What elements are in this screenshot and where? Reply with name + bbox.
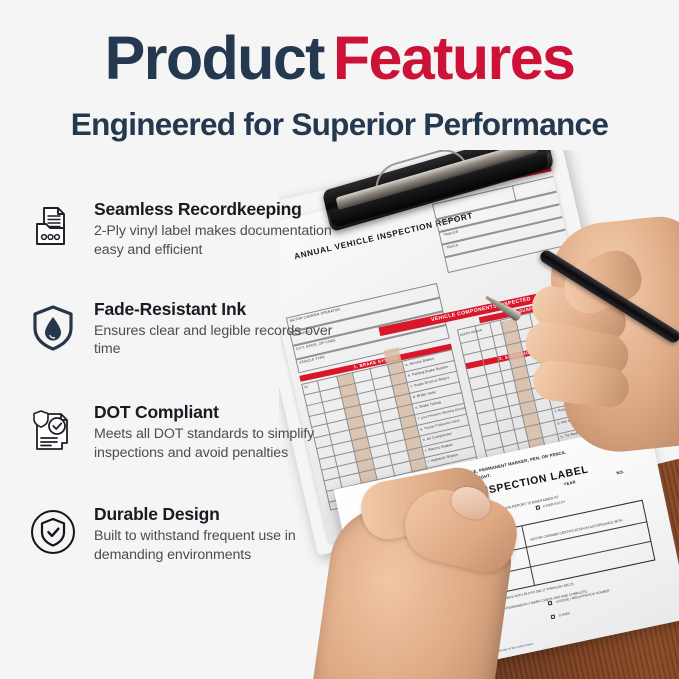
feature-title-fade-resistant-ink: Fade-Resistant Ink [94,299,342,319]
feature-text-recordkeeping: Seamless Recordkeeping 2-Ply vinyl label… [94,196,342,260]
page-subtitle: Engineered for Superior Performance [0,106,679,143]
document-filebox-icon [22,196,84,258]
feature-title-recordkeeping: Seamless Recordkeeping [94,199,342,219]
label-option-other: OTHER [558,611,570,617]
feature-title-dot-compliant: DOT Compliant [94,402,342,422]
page-title-part-1: Product [105,24,324,92]
document-check-shield-icon [22,399,84,461]
shield-check-circle-icon [22,501,84,563]
page-title-part-2: Features [333,24,574,92]
feature-title-durable-design: Durable Design [94,504,342,524]
feature-item-fade-resistant-ink: Fade-Resistant Ink Ensures clear and leg… [22,296,342,360]
label-checkbox-other[interactable] [551,614,556,619]
shield-droplet-icon [22,296,84,358]
feature-list: Seamless Recordkeeping 2-Ply vinyl label… [22,196,342,564]
label-field-no: NO. [616,469,625,476]
feature-item-recordkeeping: Seamless Recordkeeping 2-Ply vinyl label… [22,196,342,260]
feature-item-durable-design: Durable Design Built to withstand freque… [22,501,342,565]
feature-description-durable-design: Built to withstand frequent use in deman… [94,527,342,564]
feature-item-dot-compliant: DOT Compliant Meets all DOT standards to… [22,399,342,463]
product-features-page: ANNUAL VEHICLE INSPECTION REPORT VEHICLE… [0,0,679,679]
label-field-year: YEAR [563,479,576,486]
page-title: ProductFeatures [0,26,679,92]
feature-text-dot-compliant: DOT Compliant Meets all DOT standards to… [94,399,342,463]
feature-text-fade-resistant-ink: Fade-Resistant Ink Ensures clear and leg… [94,296,342,360]
feature-description-dot-compliant: Meets all DOT standards to simplify insp… [94,425,342,462]
feature-text-durable-design: Durable Design Built to withstand freque… [94,501,342,565]
feature-description-fade-resistant-ink: Ensures clear and legible records over t… [94,322,342,359]
feature-description-recordkeeping: 2-Ply vinyl label makes documentation ea… [94,222,342,259]
hand-holding-pen [511,198,679,458]
header-block: ProductFeatures Engineered for Superior … [0,26,679,143]
